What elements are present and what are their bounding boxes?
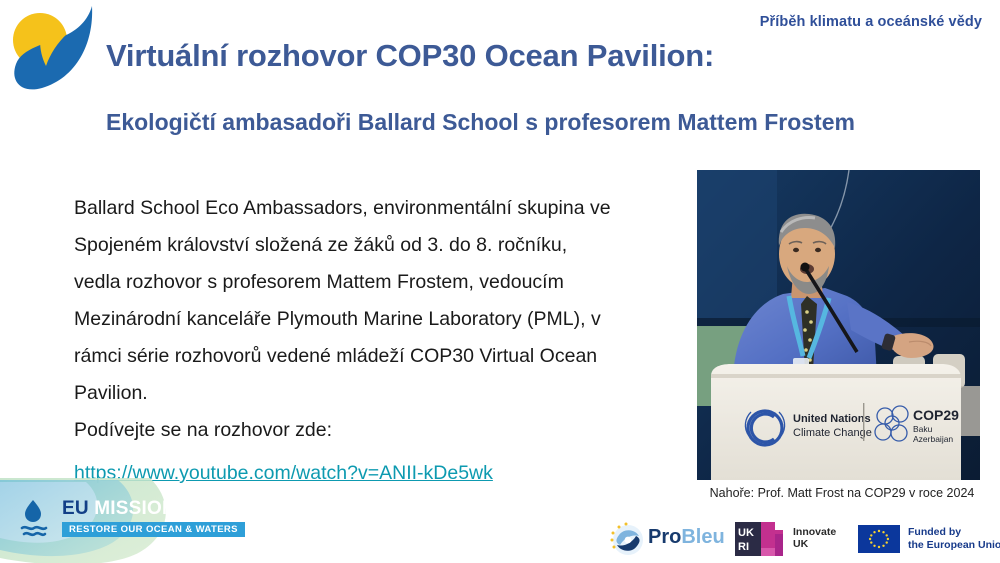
innovate-uk-wordmark: Innovate UK [793,526,836,550]
funder-logo-strip: ProBleu UK RI Innovate UK [600,518,992,560]
innovate-uk-line2: UK [793,538,836,550]
body-line: Mezinárodní kanceláře Plymouth Marine La… [74,301,684,338]
body-line: Spojeném království složená ze žáků od 3… [74,227,684,264]
svg-text:UK: UK [738,527,754,539]
podium-unfccc-line2: Climate Change [793,427,872,439]
eu-funding-line2: the European Union [908,539,1000,552]
eu-missions-tagline: RESTORE OUR OCEAN & WATERS [62,522,245,537]
ukri-mark-icon: UK RI [735,522,789,556]
innovate-uk-logo: UK RI Innovate UK [735,518,855,560]
probleu-logo: ProBleu [608,518,723,560]
header-eyebrow-text: Příběh klimatu a oceánské vědy [760,14,982,30]
page-title: Virtuální rozhovor COP30 Ocean Pavilion: [106,38,714,74]
body-line: rámci série rozhovorů vedené mládeží COP… [74,338,684,375]
innovate-uk-line1: Innovate [793,526,836,538]
probleu-swirl-icon [608,520,648,560]
podium-unfccc-line1: United Nations [793,413,871,425]
page-subtitle: Ekologičtí ambasadoři Ballard School s p… [106,96,926,148]
photo-caption: Nahoře: Prof. Matt Frost na COP29 v roce… [697,486,987,500]
eu-funding-logo: Funded by the European Union [858,518,993,560]
probleu-brand-mark-icon [6,2,102,106]
body-line: Pavilion. [74,375,684,412]
probleu-wordmark: ProBleu [648,526,725,549]
svg-text:RI: RI [738,541,749,553]
body-line: Ballard School Eco Ambassadors, environm… [74,190,684,227]
eu-missions-wordmark: EU MISSIONS [62,498,189,520]
eu-flag-icon [858,525,900,553]
photo-prof-matt-frost: United Nations Climate Change COP29 Baku… [697,170,980,480]
body-text-block: Ballard School Eco Ambassadors, environm… [74,190,684,449]
podium-cop-main: COP29 [913,407,959,423]
eu-missions-badge: EU MISSIONS RESTORE OUR OCEAN & WATERS [0,478,238,563]
eu-missions-missions-text: MISSIONS [94,498,189,519]
slide-canvas: Příběh klimatu a oceánské vědy Virtuální… [0,0,1000,563]
probleu-bleu-text: Bleu [681,526,724,548]
eu-funding-line1: Funded by [908,526,1000,539]
body-line: vedla rozhovor s profesorem Mattem Frost… [74,264,684,301]
podium-cop-line2: Azerbaijan [913,434,953,444]
eu-missions-eu-text: EU [62,498,89,519]
eu-funding-wordmark: Funded by the European Union [908,526,1000,551]
photo-frame: United Nations Climate Change COP29 Baku… [697,170,980,480]
podium-cop-line1: Baku [913,424,933,434]
probleu-pro-text: Pro [648,526,681,548]
body-line: Podívejte se na rozhovor zde: [74,412,684,449]
